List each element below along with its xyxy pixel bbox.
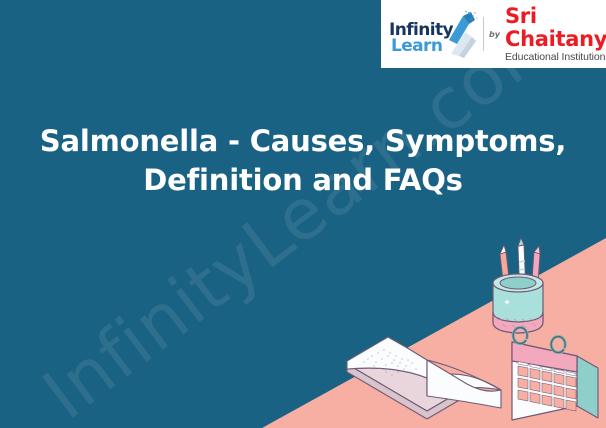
sri-chaitanya-subtitle: Educational Institutions bbox=[505, 51, 606, 63]
logo-divider bbox=[483, 17, 484, 51]
infinity-arrow-icon bbox=[445, 10, 479, 58]
desk-calendar-icon bbox=[512, 328, 598, 420]
infinity-learn-logo: Infinity Learn bbox=[387, 8, 479, 60]
sri-chaitanya-logo: Sri Chaitanya Educational Institutions bbox=[505, 5, 606, 62]
banner-image: InfinityLearn.com bbox=[0, 0, 606, 428]
infinity-learn-word-bottom: Learn bbox=[391, 36, 442, 56]
sri-chaitanya-title: Sri Chaitanya bbox=[505, 5, 606, 49]
logo-connector-text: by bbox=[489, 30, 500, 39]
desk-illustration bbox=[330, 232, 606, 428]
pencil-cup-icon bbox=[493, 238, 543, 333]
open-book-icon bbox=[347, 337, 501, 419]
logo-lockup[interactable]: Infinity Learn by Sri Chaitanya bbox=[381, 0, 606, 68]
page-title: Salmonella - Causes, Symptoms, Definitio… bbox=[26, 122, 580, 200]
